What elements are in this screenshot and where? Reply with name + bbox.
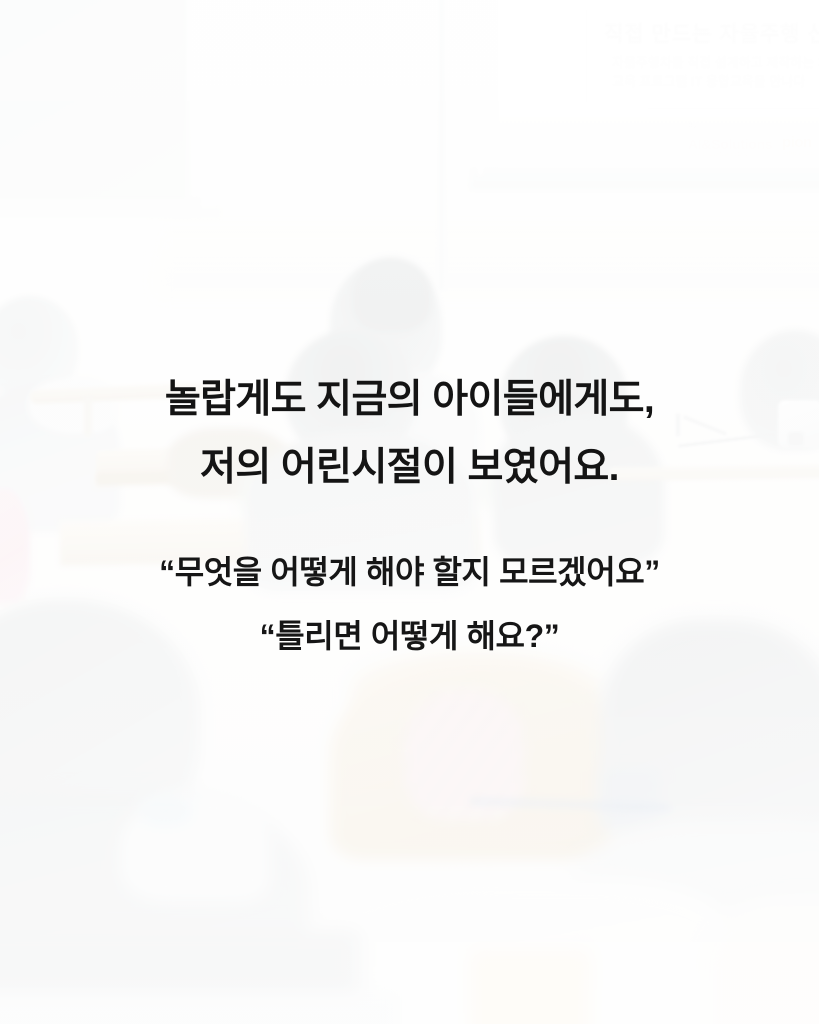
- headline: 놀랍게도 지금의 아이들에게도, 저의 어린시절이 보였어요.: [0, 366, 819, 502]
- wall-post: [437, 0, 446, 290]
- classroom-photo-background: 직접 만드는 자율주행 신환경 자율주행차를 직접 설계하고 제작하는 체험형 …: [0, 0, 819, 1024]
- slide-divider: [586, 10, 587, 102]
- whiteboard-sill: [0, 208, 220, 218]
- wall-post-secondary: [478, 0, 483, 175]
- whiteboard-panel: [0, 0, 191, 217]
- foreground-blue-shape: [600, 770, 660, 828]
- quote-line-1: “무엇을 어떻게 해야 할지 모르겠어요”: [0, 540, 819, 604]
- headline-line-1: 놀랍게도 지금의 아이들에게도,: [0, 366, 819, 434]
- headline-line-2: 저의 어린시절이 보였어요.: [0, 434, 819, 502]
- foreground-bottom-white: [0, 992, 400, 1024]
- quote-block: “무엇을 어떻게 해야 할지 모르겠어요” “틀리면 어떻게 해요?”: [0, 540, 819, 668]
- screen-bottom-bar: [470, 168, 819, 190]
- slide-title: 직접 만드는 자율주행 신환경: [604, 18, 819, 44]
- foreground-student-left-blue-collar: [140, 796, 192, 826]
- quote-line-2: “틀리면 어떻게 해요?”: [0, 604, 819, 668]
- student-hair-center-rear: [352, 258, 432, 332]
- slide-logo-primary: AI&Solutions: [688, 136, 772, 152]
- slide-logo-primary-sub: AI EDUCATION: [692, 152, 749, 158]
- slide-logo-secondary-sub: education: [783, 151, 814, 157]
- slide-logo-secondary: pion: [782, 134, 812, 151]
- slide-canvas: 직접 만드는 자율주행 신환경 자율주행차를 직접 설계하고 제작하는 체험형 …: [0, 0, 819, 1024]
- slide-subtitle-line-2: 교육 프로그램 IT 융합교육을 만나다: [612, 71, 819, 90]
- slide-subtitle-line-1: 자율주행차를 직접 설계하고 제작하는 체험형: [612, 52, 819, 71]
- foreground-cream-chair: [470, 950, 590, 1024]
- slide-rule: [648, 108, 819, 109]
- slide-credit-label: by: [688, 120, 697, 129]
